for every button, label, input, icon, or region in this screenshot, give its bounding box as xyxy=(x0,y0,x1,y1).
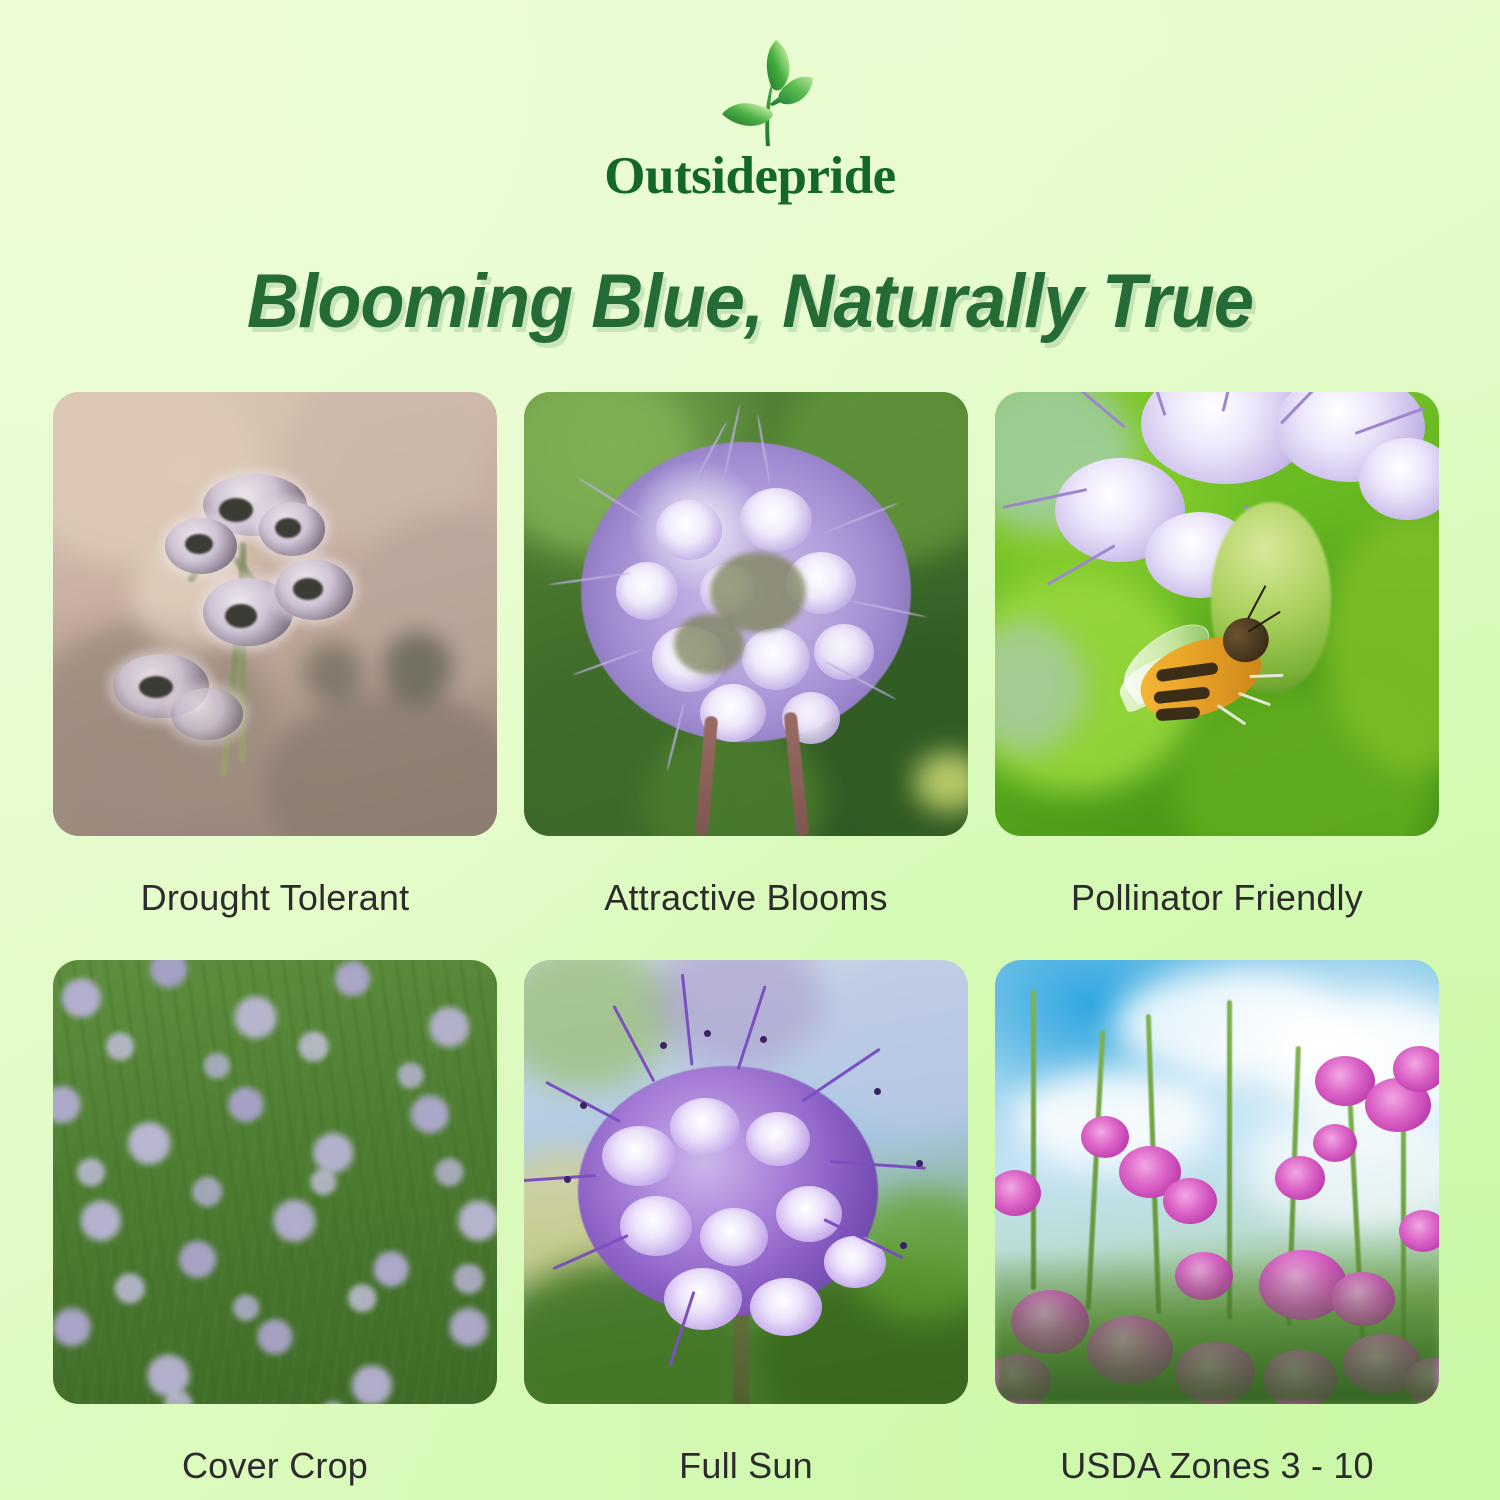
full-sun-photo xyxy=(524,960,968,1404)
usda-zones-photo xyxy=(995,960,1439,1404)
feature-caption: Cover Crop xyxy=(53,1404,497,1484)
feature-caption: Attractive Blooms xyxy=(524,836,968,916)
pollinator-friendly-photo xyxy=(995,392,1439,836)
drought-tolerant-photo xyxy=(53,392,497,836)
feature-grid: Drought Tolerant xyxy=(53,392,1447,1484)
feature-caption: USDA Zones 3 - 10 xyxy=(995,1404,1439,1484)
infographic-page: Outsidepride Blooming Blue, Naturally Tr… xyxy=(0,0,1500,1500)
brand-name: Outsidepride xyxy=(604,150,895,203)
cover-crop-photo xyxy=(53,960,497,1404)
feature-card-full-sun: Full Sun xyxy=(524,960,968,1484)
feature-card-pollinator-friendly: Pollinator Friendly xyxy=(995,392,1439,916)
feature-card-cover-crop: Cover Crop xyxy=(53,960,497,1484)
brand-logo: Outsidepride xyxy=(0,34,1500,203)
attractive-blooms-photo xyxy=(524,392,968,836)
feature-card-attractive-blooms: Attractive Blooms xyxy=(524,392,968,916)
feature-caption: Full Sun xyxy=(524,1404,968,1484)
feature-card-usda-zones: USDA Zones 3 - 10 xyxy=(995,960,1439,1484)
feature-card-drought-tolerant: Drought Tolerant xyxy=(53,392,497,916)
page-title: Blooming Blue, Naturally True xyxy=(38,258,1463,345)
feature-caption: Pollinator Friendly xyxy=(995,836,1439,916)
feature-caption: Drought Tolerant xyxy=(53,836,497,916)
three-leaf-sprout-icon xyxy=(670,34,830,156)
